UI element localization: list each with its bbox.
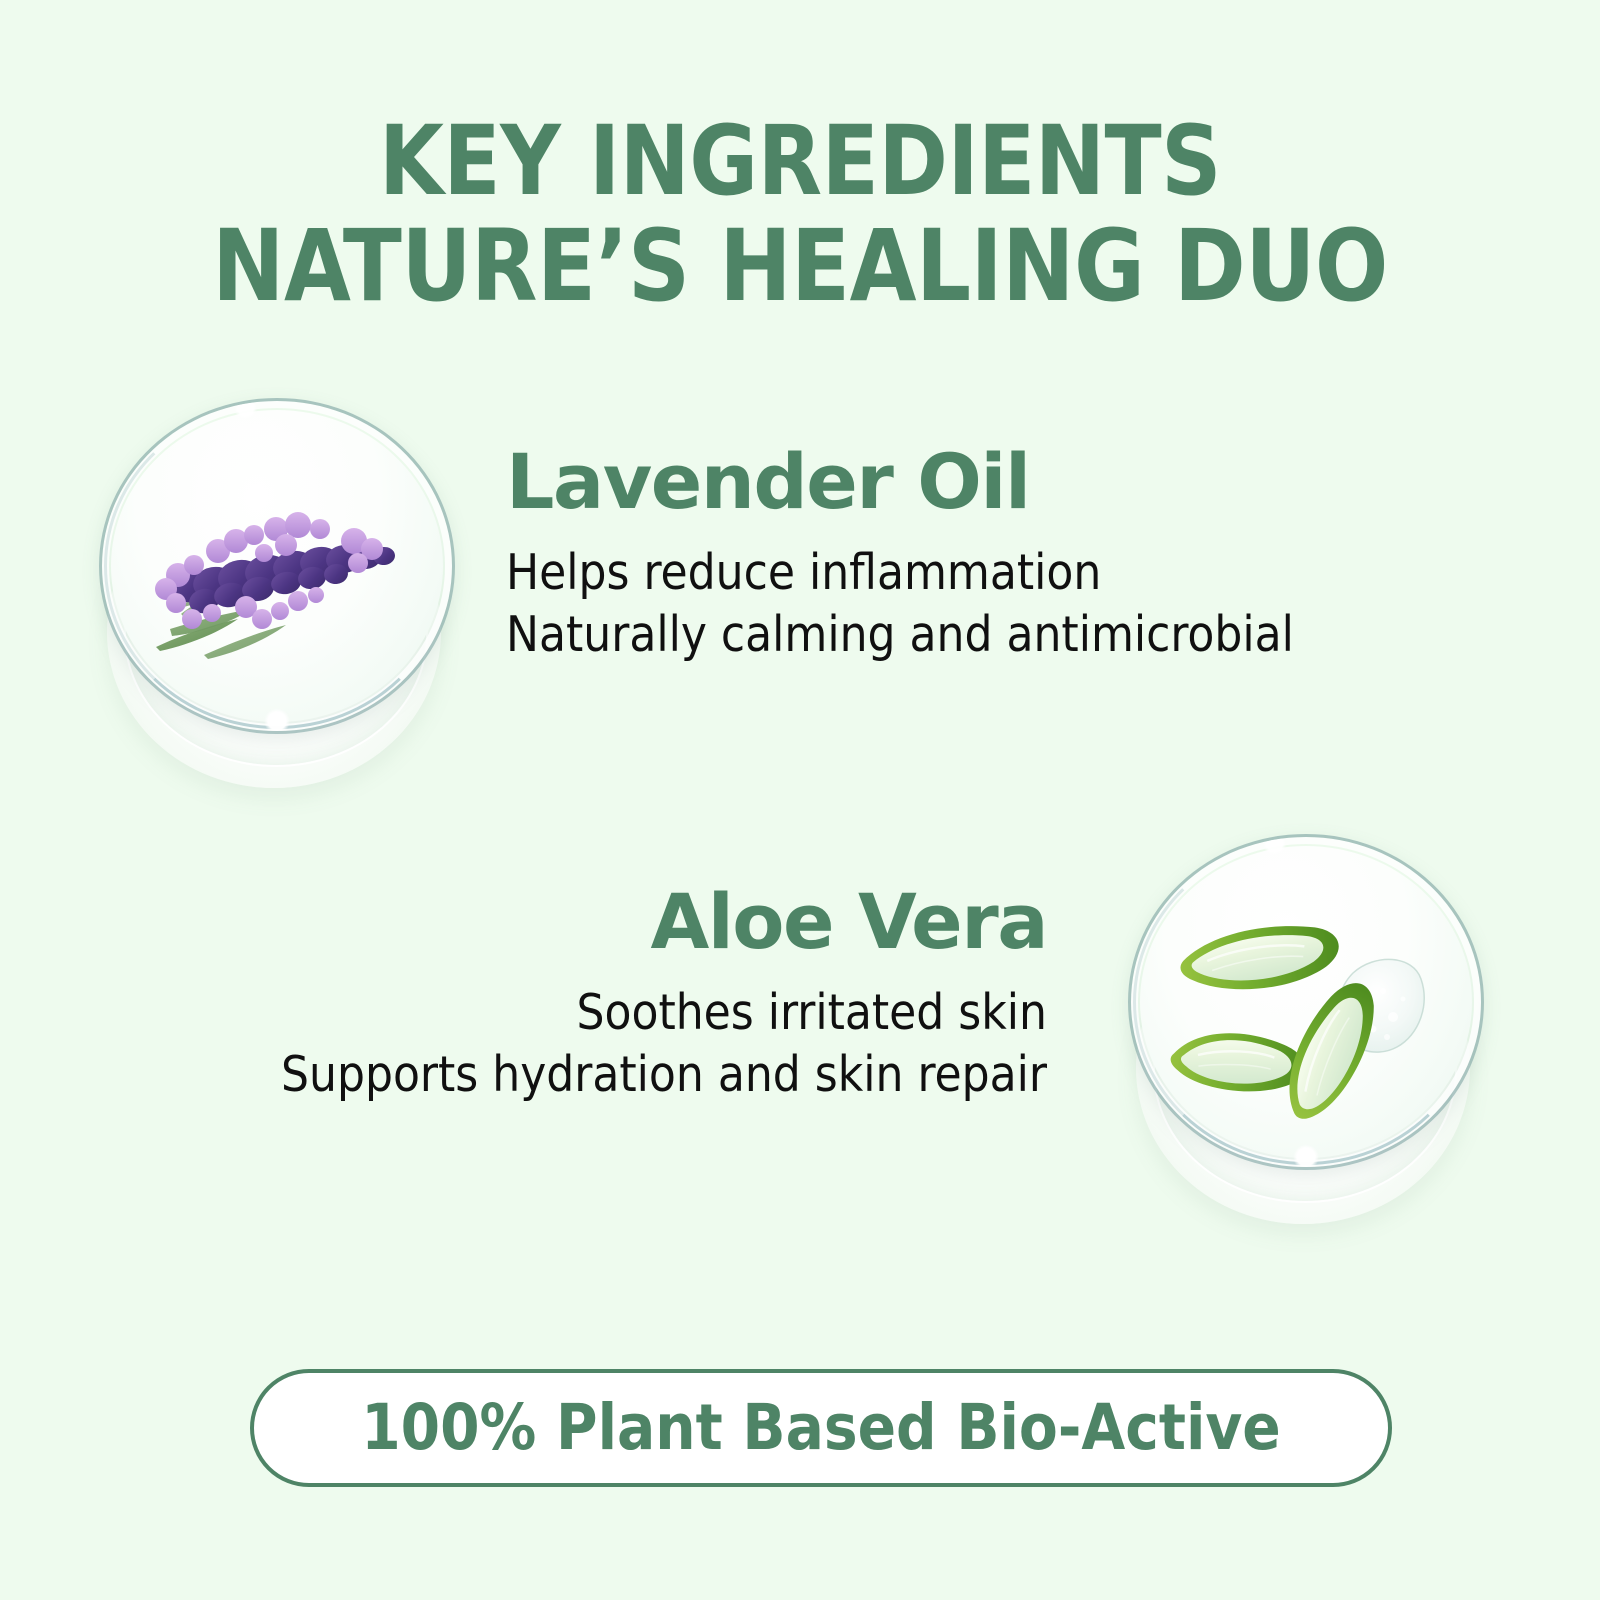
ingredient-benefit-aloe-2: Supports hydration and skin repair <box>281 1044 1047 1106</box>
page-title-line-2: NATURE’S HEALING DUO <box>24 214 1576 320</box>
dish-glass-bowl <box>99 398 455 734</box>
lavender-sprig-illustration <box>126 479 426 669</box>
dish-glass-bowl <box>1128 834 1484 1170</box>
status-badge-label: 100% Plant Based Bio-Active <box>361 1394 1281 1462</box>
ingredient-text-lavender: Lavender Oil Helps reduce inflammation N… <box>506 440 1294 666</box>
aloe-vera-petri-dish-photo <box>1122 834 1484 1234</box>
page-title: KEY INGREDIENTS NATURE’S HEALING DUO <box>0 108 1600 320</box>
ingredient-title-aloe: Aloe Vera <box>281 880 1047 964</box>
status-badge: 100% Plant Based Bio-Active <box>250 1369 1392 1487</box>
aloe-slice-1 <box>1178 921 1342 995</box>
ingredient-text-aloe: Aloe Vera Soothes irritated skin Support… <box>281 880 1047 1106</box>
ingredient-title-lavender: Lavender Oil <box>506 440 1294 524</box>
ingredient-row-lavender: Lavender Oil Helps reduce inflammation N… <box>0 380 1600 810</box>
infographic-canvas: KEY INGREDIENTS NATURE’S HEALING DUO <box>0 0 1600 1600</box>
ingredient-benefit-lavender-1: Helps reduce inflammation <box>506 542 1294 604</box>
page-title-line-1: KEY INGREDIENTS <box>24 108 1576 214</box>
ingredient-benefit-aloe-1: Soothes irritated skin <box>281 982 1047 1044</box>
lavender-petri-dish-photo <box>93 398 455 798</box>
ingredient-benefit-lavender-2: Naturally calming and antimicrobial <box>506 604 1294 666</box>
aloe-slice-2 <box>1167 1024 1308 1100</box>
aloe-slices-illustration <box>1167 895 1451 1125</box>
ingredient-row-aloe: Aloe Vera Soothes irritated skin Support… <box>0 820 1600 1250</box>
